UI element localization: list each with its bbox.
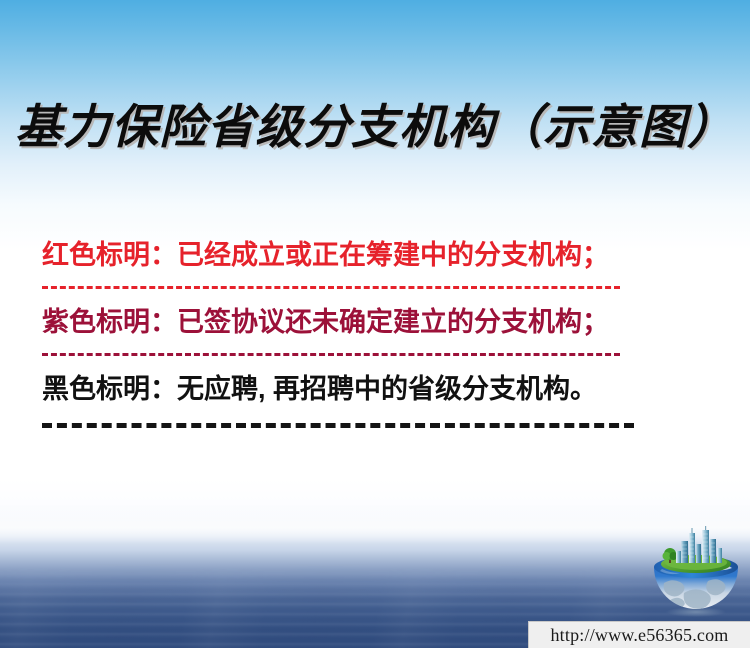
watermark-url-text: http://www.e56365.com xyxy=(550,625,728,646)
legend-divider-purple xyxy=(42,353,620,356)
legend-block: 红色标明：已经成立或正在筹建中的分支机构； 紫色标明：已签协议还未确定建立的分支… xyxy=(42,238,662,428)
legend-item-black: 黑色标明：无应聘, 再招聘中的省级分支机构。 xyxy=(42,372,662,406)
horizon-haze xyxy=(0,504,750,544)
slide-canvas: 基力保险省级分支机构（示意图） 红色标明：已经成立或正在筹建中的分支机构； 紫色… xyxy=(0,0,750,648)
globe-city-icon xyxy=(648,523,744,619)
watermark-url-box: http://www.e56365.com xyxy=(528,621,750,648)
page-title: 基力保险省级分支机构（示意图） xyxy=(0,99,750,157)
legend-divider-black xyxy=(42,423,634,428)
legend-divider-red xyxy=(42,286,620,289)
legend-item-red: 红色标明：已经成立或正在筹建中的分支机构； xyxy=(42,238,662,272)
legend-item-purple: 紫色标明：已签协议还未确定建立的分支机构； xyxy=(42,305,662,339)
